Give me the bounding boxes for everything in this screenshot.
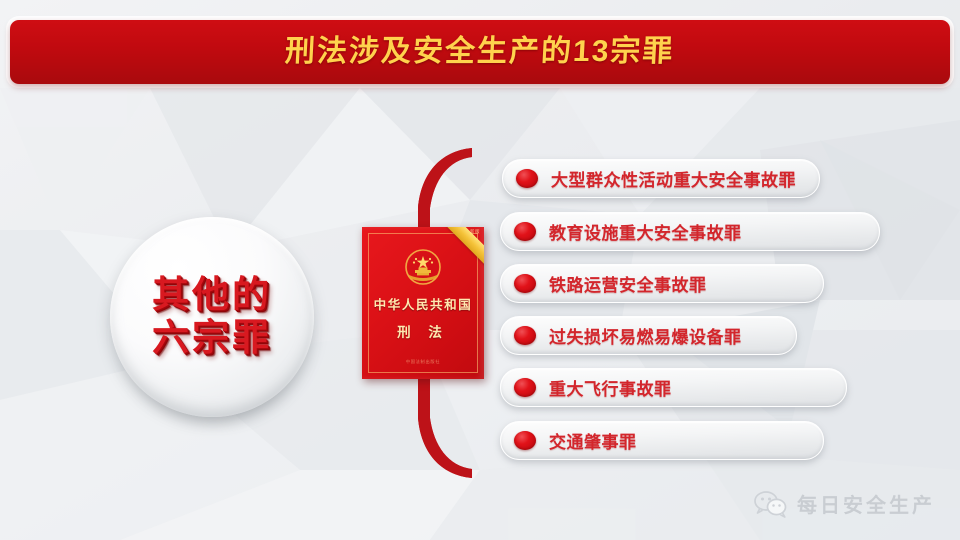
national-emblem-icon — [403, 247, 443, 287]
list-item[interactable]: 大型群众性活动重大安全事故罪 — [502, 159, 820, 198]
list-item-label: 大型群众性活动重大安全事故罪 — [551, 166, 796, 191]
book-publisher: 中国法制出版社 — [362, 359, 484, 365]
circle-body: 其他的 六宗罪 — [110, 217, 314, 417]
list-item-label: 重大飞行事故罪 — [549, 375, 672, 400]
circle-label-line1: 其他的 — [152, 274, 272, 317]
list-item[interactable]: 教育设施重大安全事故罪 — [500, 212, 880, 251]
list-item-label: 交通肇事罪 — [549, 428, 637, 453]
bullet-dot-icon — [514, 378, 536, 397]
other-crimes-circle: 其他的 六宗罪 — [110, 217, 318, 421]
list-item-label: 铁路运营安全事故罪 — [549, 271, 707, 296]
bullet-dot-icon — [514, 274, 536, 293]
wechat-icon — [754, 490, 788, 518]
bullet-dot-icon — [516, 169, 538, 188]
watermark: 每日安全生产 — [754, 489, 935, 518]
circle-label-line2: 六宗罪 — [152, 317, 272, 360]
list-item[interactable]: 重大飞行事故罪 — [500, 368, 847, 407]
book-title-line1: 中华人民共和国 — [362, 299, 484, 313]
watermark-text: 每日安全生产 — [797, 489, 935, 518]
page-title: 刑法涉及安全生产的13宗罪 — [285, 37, 676, 67]
bullet-dot-icon — [514, 431, 536, 450]
bullet-dot-icon — [514, 326, 536, 345]
book-ribbon-tag: 新版 — [470, 229, 480, 235]
criminal-law-book: 中华人民共和国 刑 法 中国法制出版社 新版 — [362, 227, 484, 379]
list-item[interactable]: 交通肇事罪 — [500, 421, 824, 460]
bullet-dot-icon — [514, 222, 536, 241]
list-item-label: 过失损坏易燃易爆设备罪 — [549, 323, 742, 348]
slide-canvas: 刑法涉及安全生产的13宗罪 其他的 六宗罪 中华人民共和国 — [0, 0, 960, 540]
list-item[interactable]: 过失损坏易燃易爆设备罪 — [500, 316, 797, 355]
book-title-line2: 刑 法 — [362, 321, 484, 341]
list-item-label: 教育设施重大安全事故罪 — [549, 219, 742, 244]
list-item[interactable]: 铁路运营安全事故罪 — [500, 264, 824, 303]
title-banner: 刑法涉及安全生产的13宗罪 — [10, 20, 950, 84]
